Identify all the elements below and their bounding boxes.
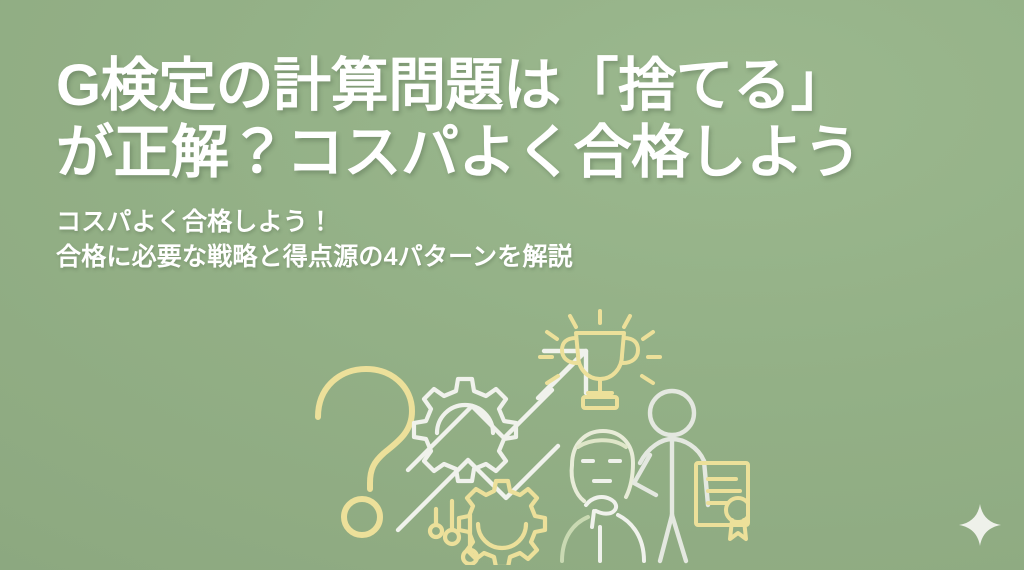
page-title: G検定の計算問題は「捨てる」 が正解？コスパよく合格しよう	[56, 52, 976, 187]
thinking-person-icon	[562, 431, 644, 561]
gear-circuit-icon	[430, 481, 545, 565]
title-line-2: が正解？コスパよく合格しよう	[56, 119, 976, 186]
illustration-svg	[300, 305, 750, 565]
title-line-1: G検定の計算問題は「捨てる」	[56, 52, 976, 119]
illustration-group	[300, 305, 750, 565]
thumbnail-canvas: G検定の計算問題は「捨てる」 が正解？コスパよく合格しよう コスパよく合格しよう…	[0, 0, 1024, 570]
question-mark-icon	[318, 369, 412, 535]
subtitle-line-2: 合格に必要な戦略と得点源の4パターンを解説	[56, 240, 976, 276]
trophy-icon	[540, 311, 660, 408]
page-subtitle: コスパよく合格しよう！ 合格に必要な戦略と得点源の4パターンを解説	[56, 205, 976, 276]
text-block: G検定の計算問題は「捨てる」 が正解？コスパよく合格しよう コスパよく合格しよう…	[56, 52, 976, 276]
subtitle-line-1: コスパよく合格しよう！	[56, 205, 976, 241]
sparkle-star-svg	[958, 503, 1002, 547]
sparkle-star-icon	[958, 503, 1002, 547]
